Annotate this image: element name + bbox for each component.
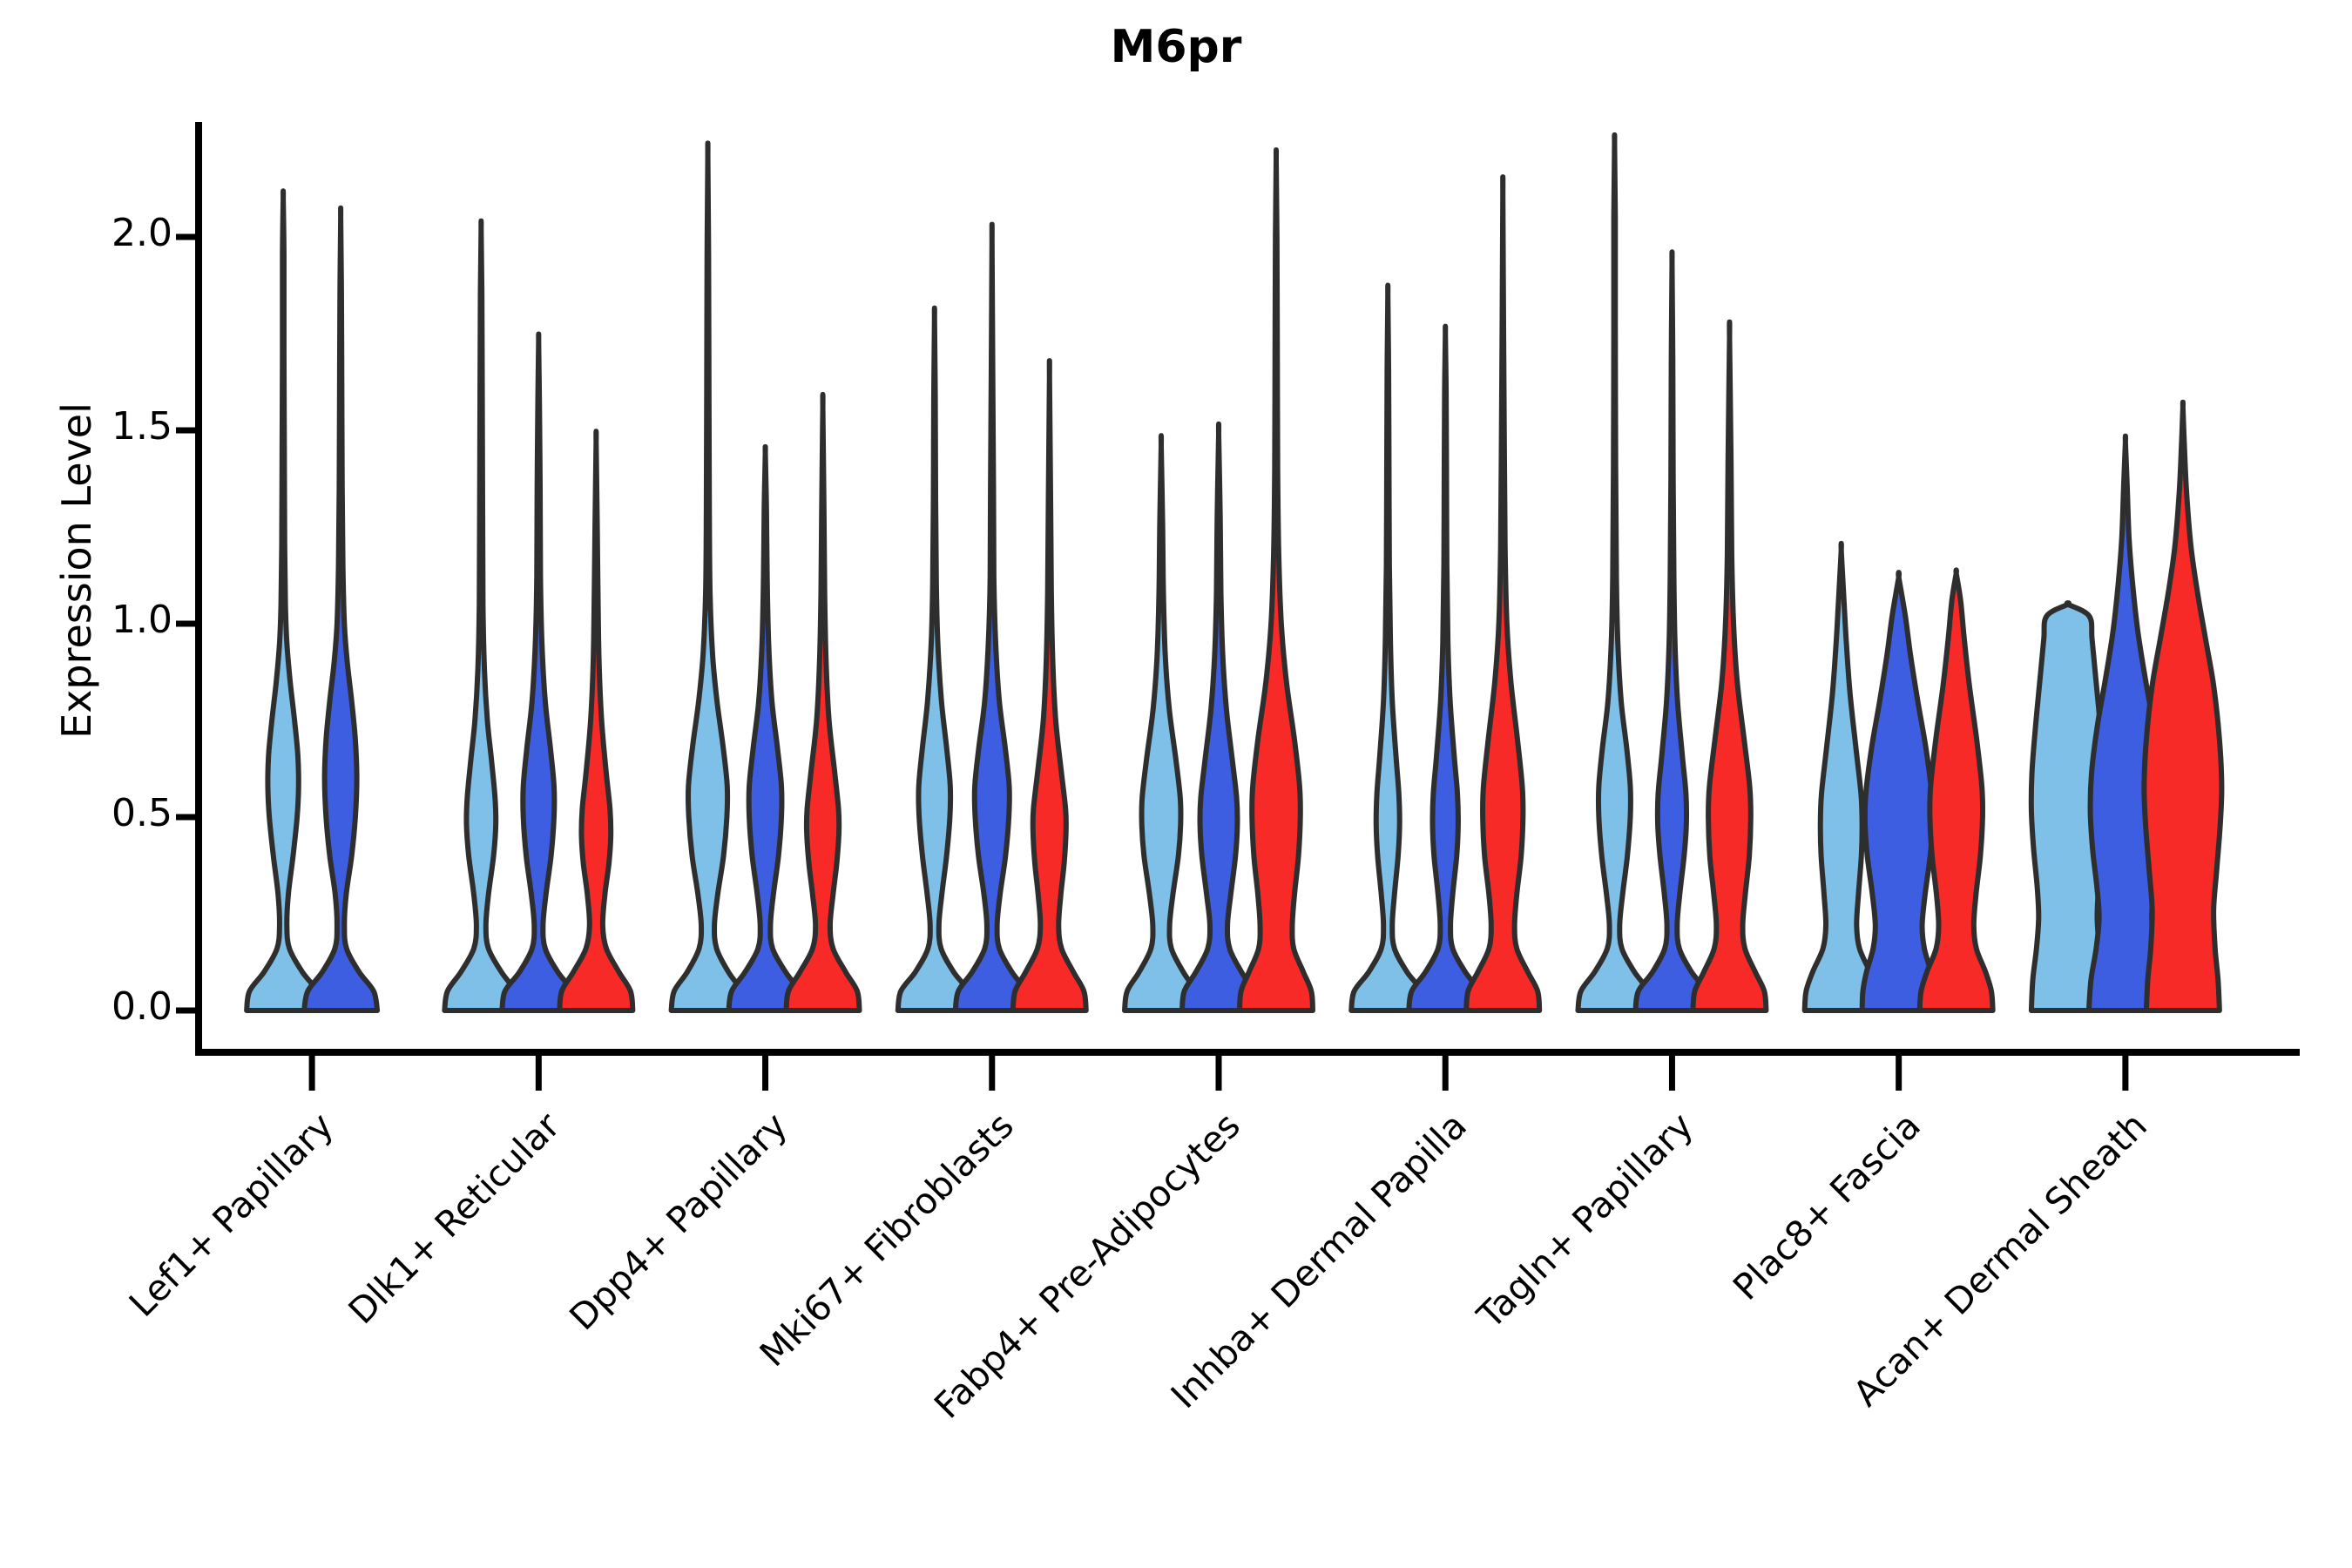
violin-shape <box>247 191 320 1010</box>
violin-shape <box>1635 252 1708 1010</box>
violin-shape <box>672 143 745 1010</box>
violin-shape <box>1693 322 1766 1010</box>
axis-spines <box>176 122 2300 1091</box>
violin-shape <box>2144 402 2221 1010</box>
violin-shape <box>1240 150 1313 1010</box>
violin-shape <box>1351 286 1424 1011</box>
violin-shape <box>1182 424 1255 1010</box>
violin-shape <box>1466 177 1539 1010</box>
violin-shape <box>1013 361 1086 1010</box>
violin-shape <box>444 221 517 1010</box>
plot-canvas <box>0 0 2352 1568</box>
violin-shape <box>304 208 377 1010</box>
violin-shape <box>1578 135 1651 1010</box>
violin-plot-figure: M6pr Expression Level 0.00.51.01.52.0 Le… <box>0 0 2352 1568</box>
violin-shape <box>1409 327 1482 1010</box>
violin-shape <box>956 225 1029 1010</box>
violin-shape <box>787 395 860 1010</box>
violin-shapes <box>247 135 2221 1010</box>
violin-shape <box>898 308 971 1010</box>
violin-shape <box>1920 570 1993 1010</box>
violin-shape <box>1125 436 1198 1010</box>
violin-shape <box>559 431 632 1010</box>
violin-shape <box>1862 572 1936 1010</box>
violin-shape <box>502 335 575 1010</box>
violin-shape <box>729 447 802 1010</box>
